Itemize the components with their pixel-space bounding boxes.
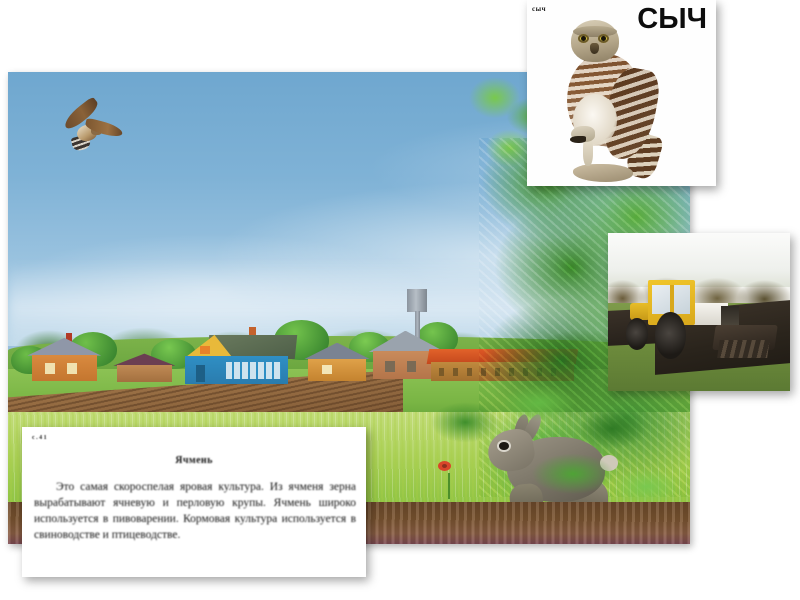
veranda-windows [226,362,281,379]
door-icon [196,365,205,382]
house-body [308,359,366,382]
owl-pupil-left [581,36,586,41]
village-house-main [185,327,287,384]
owl-corner-note: сыч [532,5,546,13]
owl-perch-stone [573,164,633,182]
house-body [32,355,97,381]
text-card-corner-mark: с.41 [32,435,48,441]
bird-of-prey [63,105,121,157]
window-icon [407,361,417,372]
plow-implement [712,325,777,350]
text-card-title: Ячмень [22,455,366,466]
window-icon [45,363,55,374]
window-icon [200,346,210,354]
village-house [308,343,366,381]
tractor-tank [630,303,650,320]
water-tower-tank [407,289,427,311]
owl-beak-icon [590,43,599,54]
house-body [117,365,172,382]
text-card-body: Это самая скороспелая яровая культура. И… [34,479,356,543]
window-icon [322,365,332,374]
tractor-cab-pillar [670,285,674,313]
village-house [32,339,97,381]
village-house [117,353,172,382]
owl-photo-panel[interactable]: сыч СЫЧ [527,0,716,186]
roof [27,338,101,356]
owl-pupil-right [601,36,606,41]
tractor-photo-panel[interactable] [608,233,790,391]
text-card-panel[interactable]: с.41 Ячмень Это самая скороспелая яровая… [22,427,366,577]
tractor-front-wheel [626,318,648,350]
slide-root: сыч СЫЧ [0,0,800,600]
owl-talon-icon [570,136,586,143]
roof [113,352,175,365]
tractor-nose [721,306,739,325]
window-icon [67,363,77,374]
little-owl-illustration [557,16,677,184]
roof [304,343,370,360]
window-icon [385,361,395,372]
